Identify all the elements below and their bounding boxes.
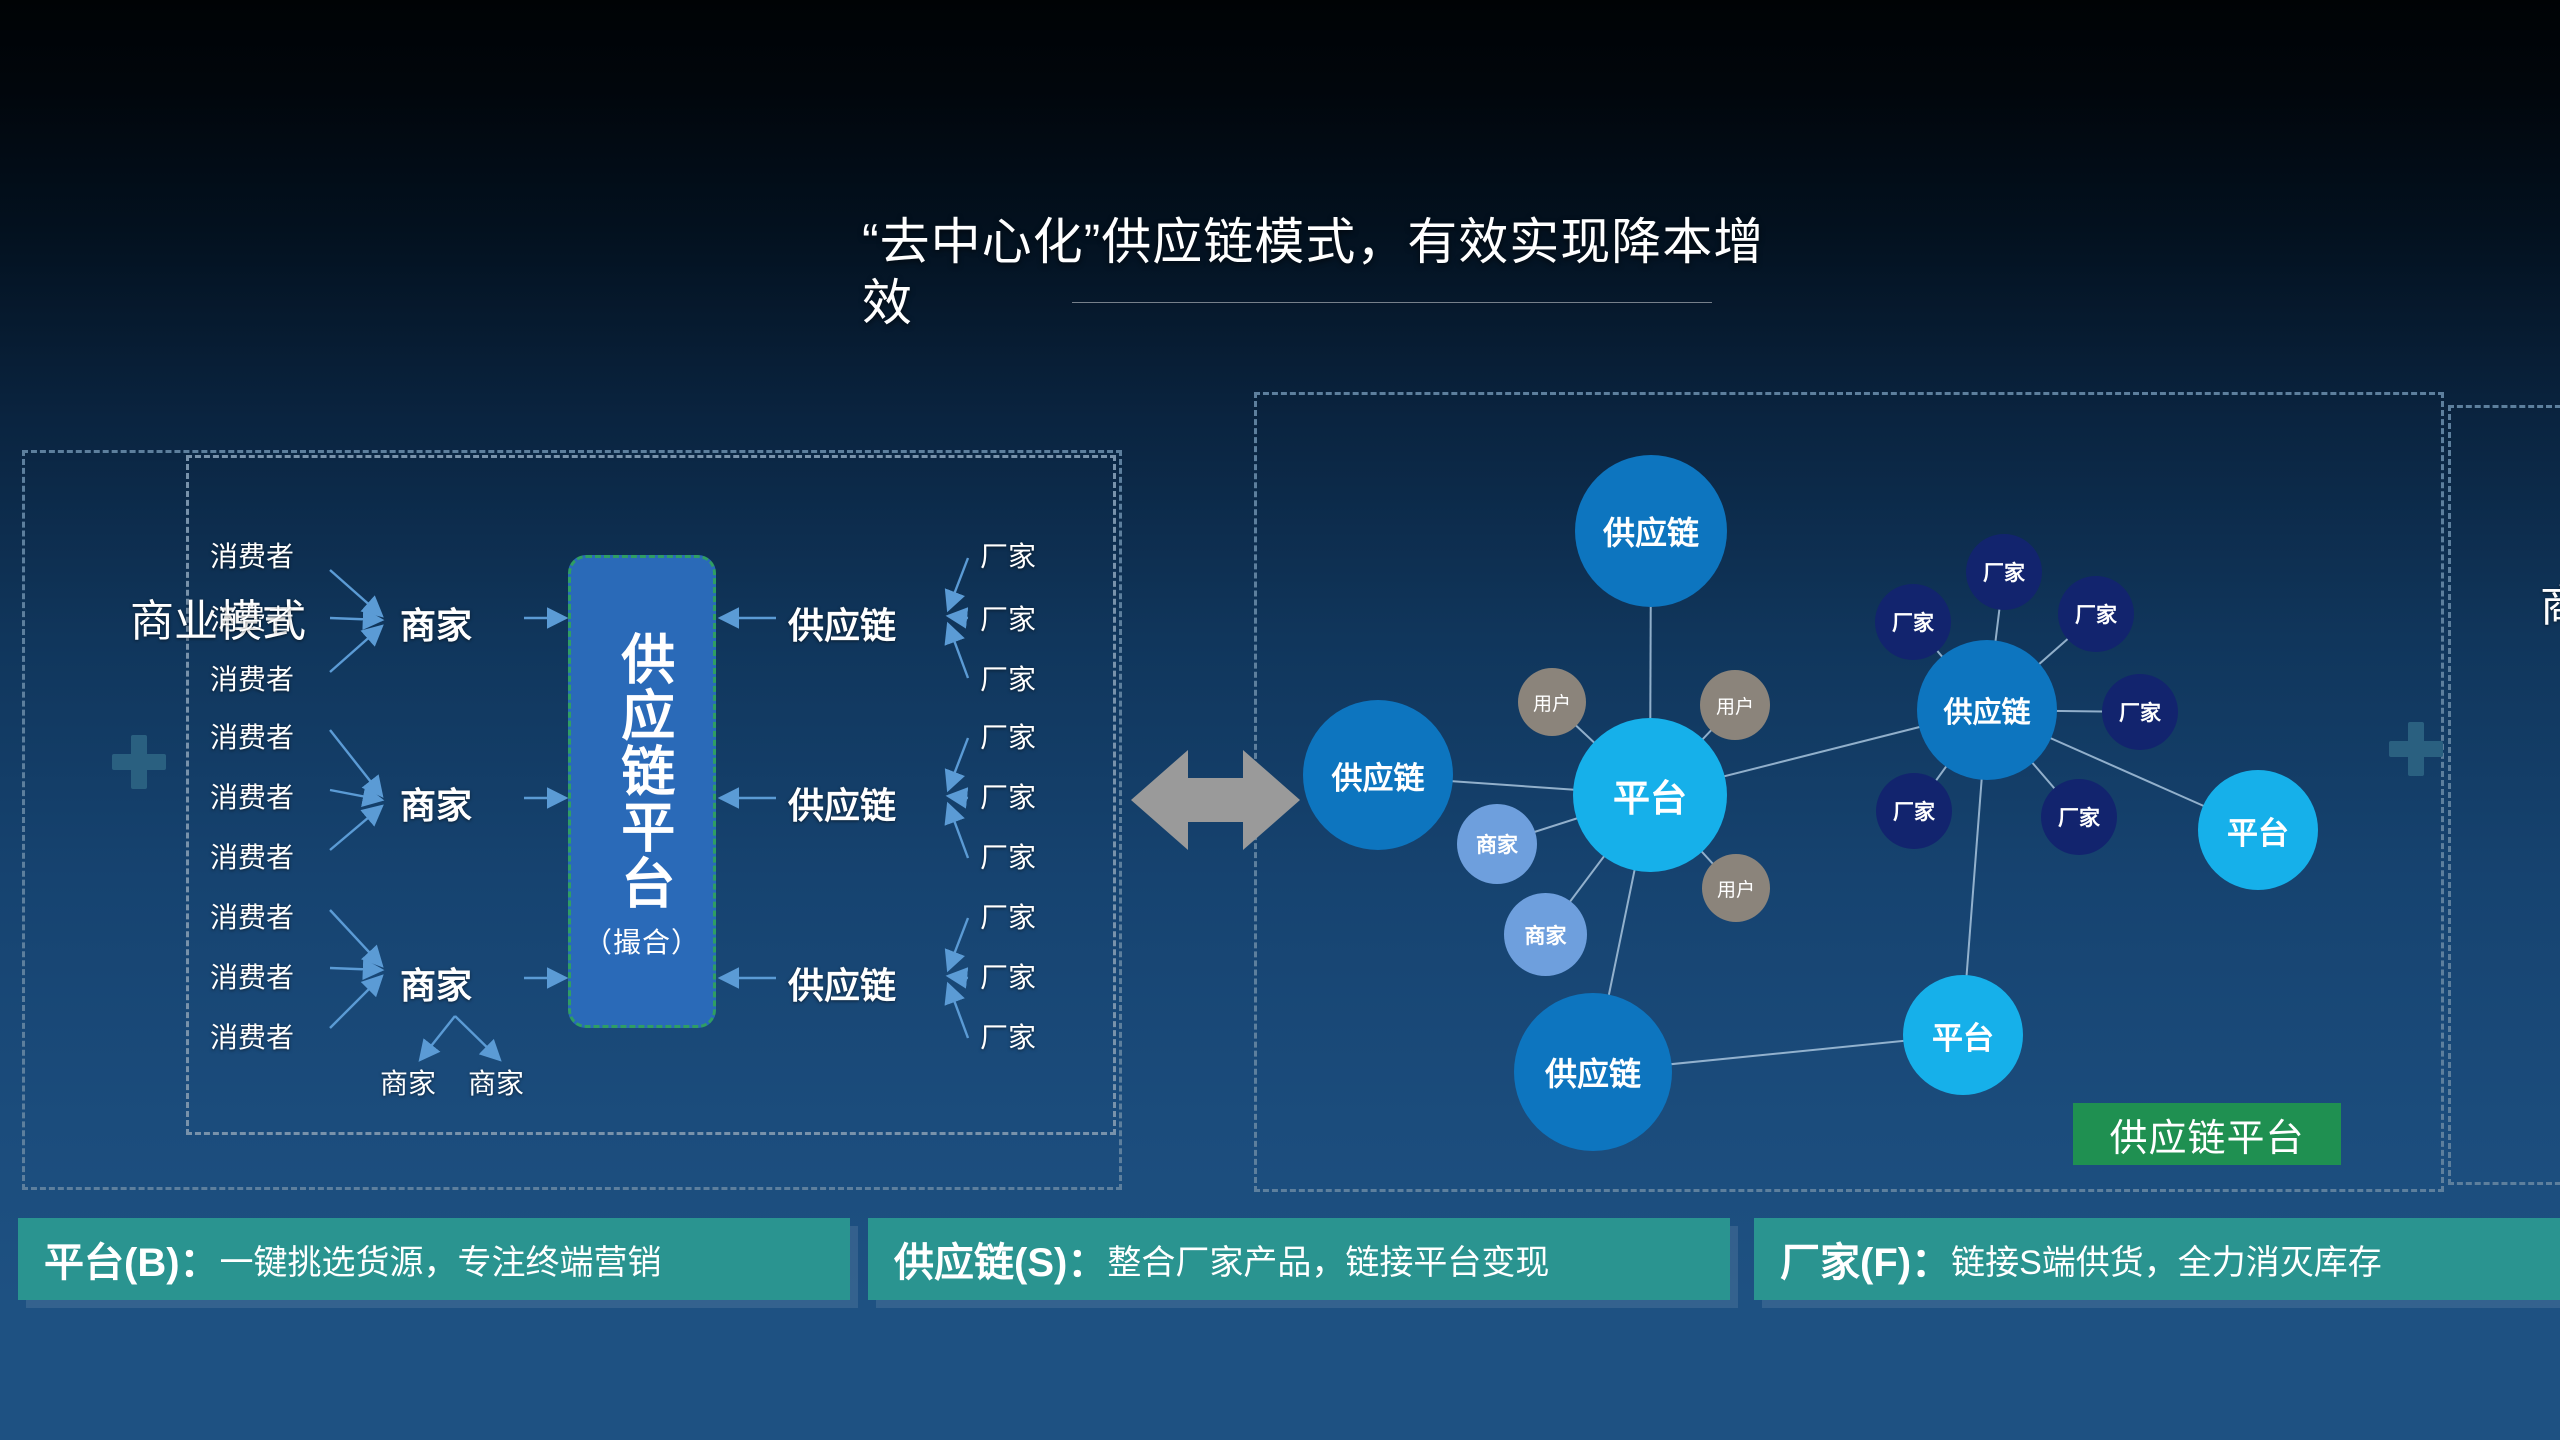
banner-supply-chain[interactable]: 供应链(S)： 整合厂家产品，链接平台变现 — [868, 1218, 1730, 1300]
merchant-label: 商家 — [400, 957, 472, 1009]
factory-label: 厂家 — [980, 836, 1036, 876]
banner-platform[interactable]: 平台(B)： 一键挑选货源，专注终端营销 — [18, 1218, 850, 1300]
network-node-merchant[interactable]: 商家 — [1504, 893, 1587, 976]
network-node-chain-top[interactable]: 供应链 — [1575, 455, 1727, 607]
banner-platform-strong: 平台(B)： — [44, 1230, 220, 1288]
page-title: “去中心化”供应链模式，有效实现降本增 效 — [862, 212, 1872, 334]
network-node-chain-hub[interactable]: 供应链 — [1917, 640, 2057, 780]
sub-merchant-label: 商家 — [380, 1062, 436, 1102]
factory-label: 厂家 — [980, 1016, 1036, 1056]
banner-factory-normal: 链接S端供货，全力消灭库存 — [1951, 1235, 2382, 1284]
factory-label: 厂家 — [980, 776, 1036, 816]
chain-label: 供应链 — [788, 957, 896, 1009]
banner-factory-strong: 厂家(F)： — [1780, 1230, 1951, 1288]
factory-label: 厂家 — [980, 716, 1036, 756]
network-node-user[interactable]: 用户 — [1702, 854, 1770, 922]
consumer-label: 消费者 — [210, 598, 294, 638]
chain-label: 供应链 — [788, 597, 896, 649]
far-right-clipped-label: 商 — [2540, 570, 2560, 634]
consumer-label: 消费者 — [210, 836, 294, 876]
factory-label: 厂家 — [980, 896, 1036, 936]
merchant-label: 商家 — [400, 597, 472, 649]
consumer-label: 消费者 — [210, 776, 294, 816]
consumer-label: 消费者 — [210, 896, 294, 936]
network-node-platform-right[interactable]: 平台 — [2198, 770, 2318, 890]
network-node-user[interactable]: 用户 — [1518, 668, 1586, 736]
banner-supply-chain-strong: 供应链(S)： — [894, 1230, 1107, 1288]
network-node-factory[interactable]: 厂家 — [1875, 584, 1951, 660]
chain-label: 供应链 — [788, 777, 896, 829]
consumer-label: 消费者 — [210, 1016, 294, 1056]
network-node-chain-left[interactable]: 供应链 — [1303, 700, 1453, 850]
banner-platform-normal: 一键挑选货源，专注终端营销 — [220, 1235, 662, 1284]
plus-icon-right — [2389, 722, 2443, 776]
network-node-factory[interactable]: 厂家 — [2102, 674, 2178, 750]
network-node-platform-lower[interactable]: 平台 — [1903, 975, 2023, 1095]
factory-label: 厂家 — [980, 535, 1036, 575]
title-underline — [1072, 302, 1712, 303]
page-title-line1: “去中心化”供应链模式，有效实现降本增 — [862, 214, 1764, 270]
supply-chain-platform-subtitle: （撮合） — [584, 921, 700, 961]
banner-supply-chain-normal: 整合厂家产品，链接平台变现 — [1107, 1235, 1549, 1284]
sub-merchant-label: 商家 — [468, 1062, 524, 1102]
merchant-label: 商家 — [400, 777, 472, 829]
consumer-label: 消费者 — [210, 535, 294, 575]
supply-chain-platform-box[interactable]: 供应链平台 （撮合） — [568, 555, 716, 1028]
supply-chain-platform-title: 供应链平台 — [614, 631, 670, 911]
network-node-factory[interactable]: 厂家 — [2058, 576, 2134, 652]
factory-label: 厂家 — [980, 658, 1036, 698]
network-node-chain-bottom[interactable]: 供应链 — [1514, 993, 1672, 1151]
network-node-factory[interactable]: 厂家 — [1876, 773, 1952, 849]
factory-label: 厂家 — [980, 598, 1036, 638]
network-node-factory[interactable]: 厂家 — [1966, 534, 2042, 610]
plus-icon-left — [112, 735, 166, 789]
network-node-user[interactable]: 用户 — [1700, 670, 1770, 740]
consumer-label: 消费者 — [210, 658, 294, 698]
banner-factory[interactable]: 厂家(F)： 链接S端供货，全力消灭库存 — [1754, 1218, 2560, 1300]
network-node-platform-center[interactable]: 平台 — [1573, 718, 1727, 872]
consumer-label: 消费者 — [210, 956, 294, 996]
network-node-factory[interactable]: 厂家 — [2041, 779, 2117, 855]
network-node-merchant[interactable]: 商家 — [1457, 804, 1537, 884]
far-right-panel — [2448, 405, 2560, 1185]
slide-root: “去中心化”供应链模式，有效实现降本增 效 — [0, 0, 2560, 1440]
consumer-label: 消费者 — [210, 716, 294, 756]
supply-chain-platform-tag: 供应链平台 — [2073, 1103, 2341, 1165]
factory-label: 厂家 — [980, 956, 1036, 996]
page-title-line2: 效 — [862, 275, 913, 331]
